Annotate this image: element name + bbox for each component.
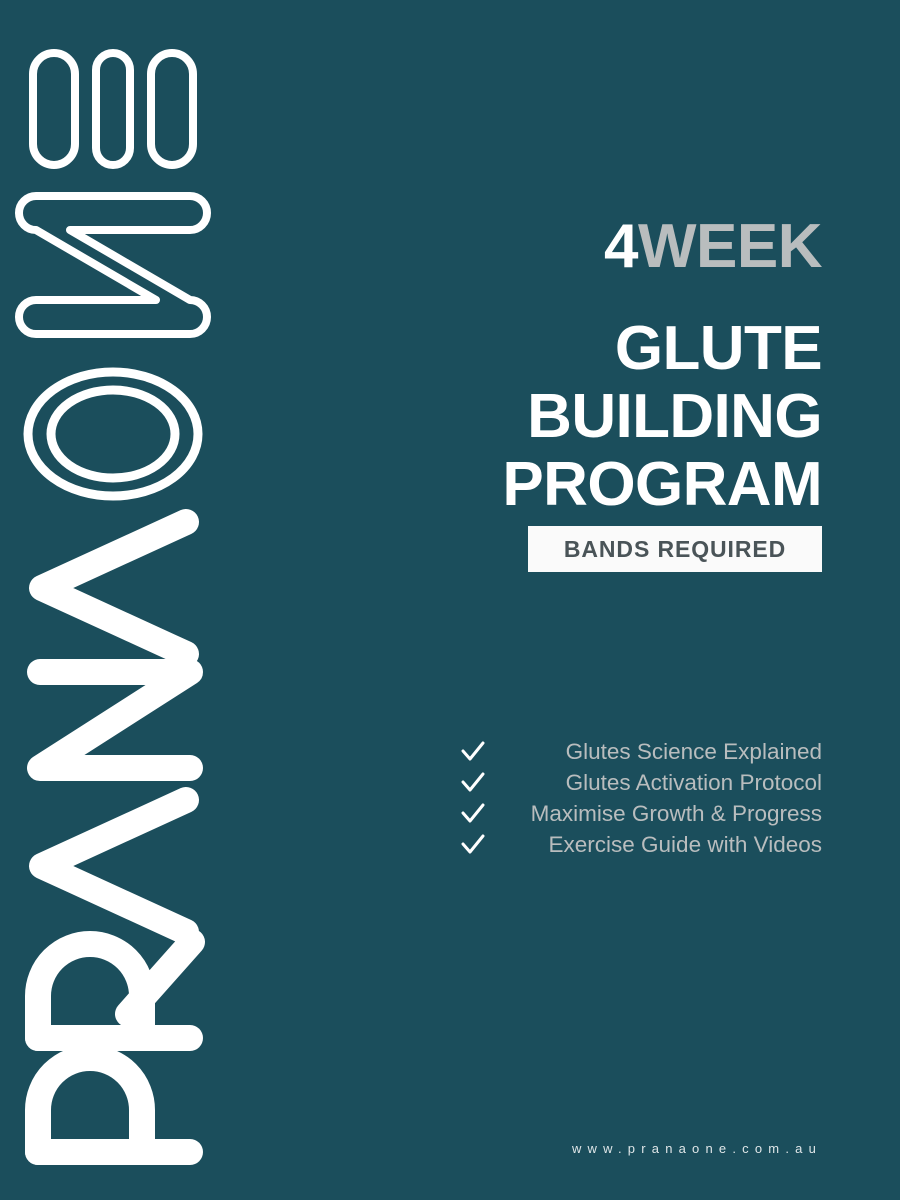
check-icon bbox=[460, 739, 486, 765]
list-item: Exercise Guide with Videos bbox=[300, 829, 822, 860]
logo-letter-n-solid bbox=[40, 672, 190, 768]
feature-label: Maximise Growth & Progress bbox=[486, 798, 822, 829]
check-icon bbox=[460, 801, 486, 827]
prana-one-logo bbox=[0, 0, 232, 1200]
logo-letter-e bbox=[33, 53, 193, 165]
logo-letter-a-upper bbox=[42, 522, 186, 654]
logo-letter-o bbox=[28, 372, 198, 496]
equipment-badge-label: BANDS REQUIRED bbox=[564, 536, 786, 563]
cover-content-column: 4WEEK GLUTE BUILDING PROGRAM BANDS REQUI… bbox=[300, 0, 822, 1200]
program-cover-page: 4WEEK GLUTE BUILDING PROGRAM BANDS REQUI… bbox=[0, 0, 900, 1200]
title-line-1: GLUTE bbox=[300, 318, 822, 380]
page-title: GLUTE BUILDING PROGRAM bbox=[300, 318, 822, 516]
list-item: Glutes Science Explained bbox=[300, 736, 822, 767]
feature-label: Glutes Science Explained bbox=[486, 736, 822, 767]
logo-letter-r bbox=[38, 942, 192, 1038]
feature-label: Exercise Guide with Videos bbox=[486, 829, 822, 860]
list-item: Maximise Growth & Progress bbox=[300, 798, 822, 829]
equipment-badge: BANDS REQUIRED bbox=[528, 526, 822, 572]
duration-unit: WEEK bbox=[638, 212, 822, 281]
list-item: Glutes Activation Protocol bbox=[300, 767, 822, 798]
feature-list: Glutes Science Explained Glutes Activati… bbox=[300, 736, 822, 860]
logo-letter-a-lower bbox=[42, 800, 186, 932]
logo-letter-n-outline bbox=[19, 196, 207, 334]
title-line-2: BUILDING bbox=[300, 386, 822, 448]
duration-number: 4 bbox=[604, 212, 638, 281]
check-icon bbox=[460, 832, 486, 858]
website-url: www.pranaone.com.au bbox=[300, 1141, 822, 1156]
feature-label: Glutes Activation Protocol bbox=[486, 767, 822, 798]
duration-eyebrow: 4WEEK bbox=[300, 216, 822, 278]
title-line-3: PROGRAM bbox=[300, 454, 822, 516]
logo-letter-p bbox=[38, 1058, 190, 1152]
check-icon bbox=[460, 770, 486, 796]
